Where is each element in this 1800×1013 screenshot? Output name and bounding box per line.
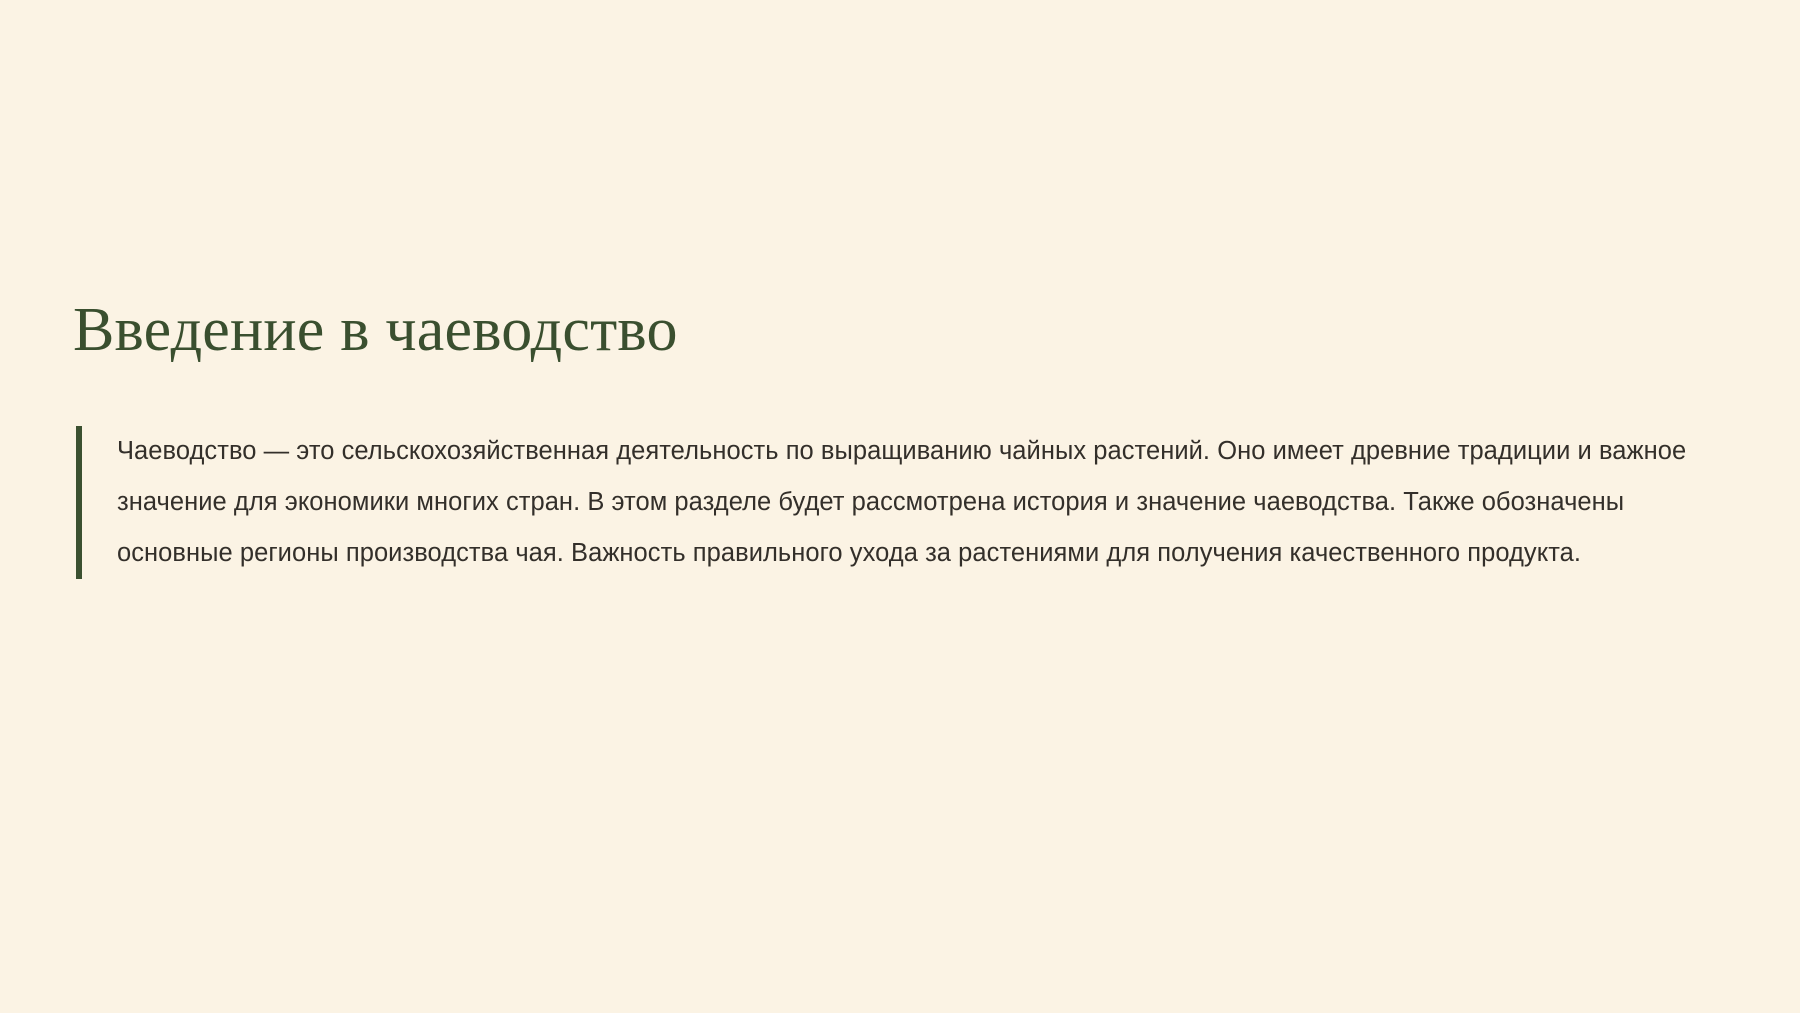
content-block: Введение в чаеводство Чаеводство — это с… bbox=[73, 296, 1728, 579]
page-title: Введение в чаеводство bbox=[73, 296, 1728, 365]
quote-paragraph: Чаеводство — это сельскохозяйственная де… bbox=[117, 426, 1728, 579]
quote-accent-bar bbox=[76, 426, 82, 579]
quote-block: Чаеводство — это сельскохозяйственная де… bbox=[73, 426, 1728, 579]
document-page: Введение в чаеводство Чаеводство — это с… bbox=[0, 0, 1800, 1013]
